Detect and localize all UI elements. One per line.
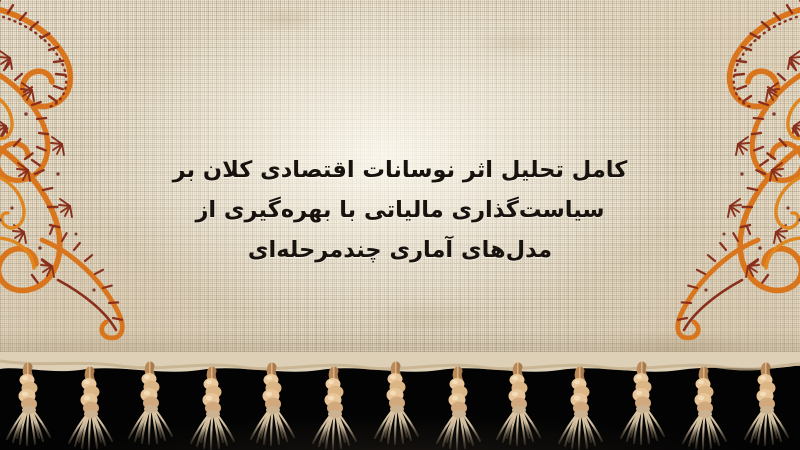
title-line-1: کامل تحلیل اثر نوسانات اقتصادی کلان بر <box>168 150 632 190</box>
fabric-stain <box>470 28 560 58</box>
page-title: کامل تحلیل اثر نوسانات اقتصادی کلان بر س… <box>168 150 632 270</box>
fabric-stain <box>250 6 320 32</box>
dark-band <box>0 366 800 450</box>
title-line-3: مدل‌های آماری چندمرحله‌ای <box>168 230 632 270</box>
fabric-stain <box>600 330 750 370</box>
fabric-stain <box>370 300 490 334</box>
title-line-2: سیاست‌گذاری مالیاتی با بهره‌گیری از <box>168 190 632 230</box>
title-card: کامل تحلیل اثر نوسانات اقتصادی کلان بر س… <box>0 0 800 450</box>
